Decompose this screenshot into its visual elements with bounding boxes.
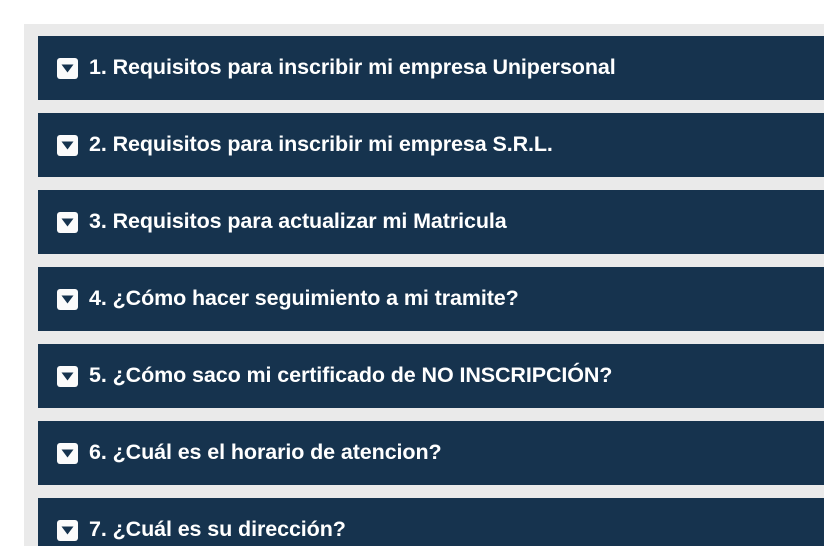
accordion-item-label: 4. ¿Cómo hacer seguimiento a mi tramite?	[89, 288, 519, 310]
accordion-item-label: 2. Requisitos para inscribir mi empresa …	[89, 134, 553, 156]
chevron-down-icon[interactable]	[57, 366, 78, 387]
accordion-item-1[interactable]: 1. Requisitos para inscribir mi empresa …	[38, 36, 824, 100]
accordion-item-label: 1. Requisitos para inscribir mi empresa …	[89, 57, 616, 79]
chevron-down-icon[interactable]	[57, 58, 78, 79]
chevron-down-icon[interactable]	[57, 212, 78, 233]
accordion-item-4[interactable]: 4. ¿Cómo hacer seguimiento a mi tramite?	[38, 267, 824, 331]
accordion-item-label: 7. ¿Cuál es su dirección?	[89, 519, 346, 541]
accordion-item-3[interactable]: 3. Requisitos para actualizar mi Matricu…	[38, 190, 824, 254]
accordion-item-label: 3. Requisitos para actualizar mi Matricu…	[89, 211, 507, 233]
chevron-down-icon[interactable]	[57, 520, 78, 541]
accordion-item-2[interactable]: 2. Requisitos para inscribir mi empresa …	[38, 113, 824, 177]
accordion-item-label: 5. ¿Cómo saco mi certificado de NO INSCR…	[89, 365, 612, 387]
page-root: 1. Requisitos para inscribir mi empresa …	[0, 0, 824, 546]
accordion-item-label: 6. ¿Cuál es el horario de atencion?	[89, 442, 442, 464]
content-panel: 1. Requisitos para inscribir mi empresa …	[24, 24, 824, 546]
accordion-item-5[interactable]: 5. ¿Cómo saco mi certificado de NO INSCR…	[38, 344, 824, 408]
chevron-down-icon[interactable]	[57, 443, 78, 464]
accordion-item-7[interactable]: 7. ¿Cuál es su dirección?	[38, 498, 824, 546]
faq-accordion: 1. Requisitos para inscribir mi empresa …	[38, 36, 824, 546]
accordion-item-6[interactable]: 6. ¿Cuál es el horario de atencion?	[38, 421, 824, 485]
chevron-down-icon[interactable]	[57, 289, 78, 310]
chevron-down-icon[interactable]	[57, 135, 78, 156]
